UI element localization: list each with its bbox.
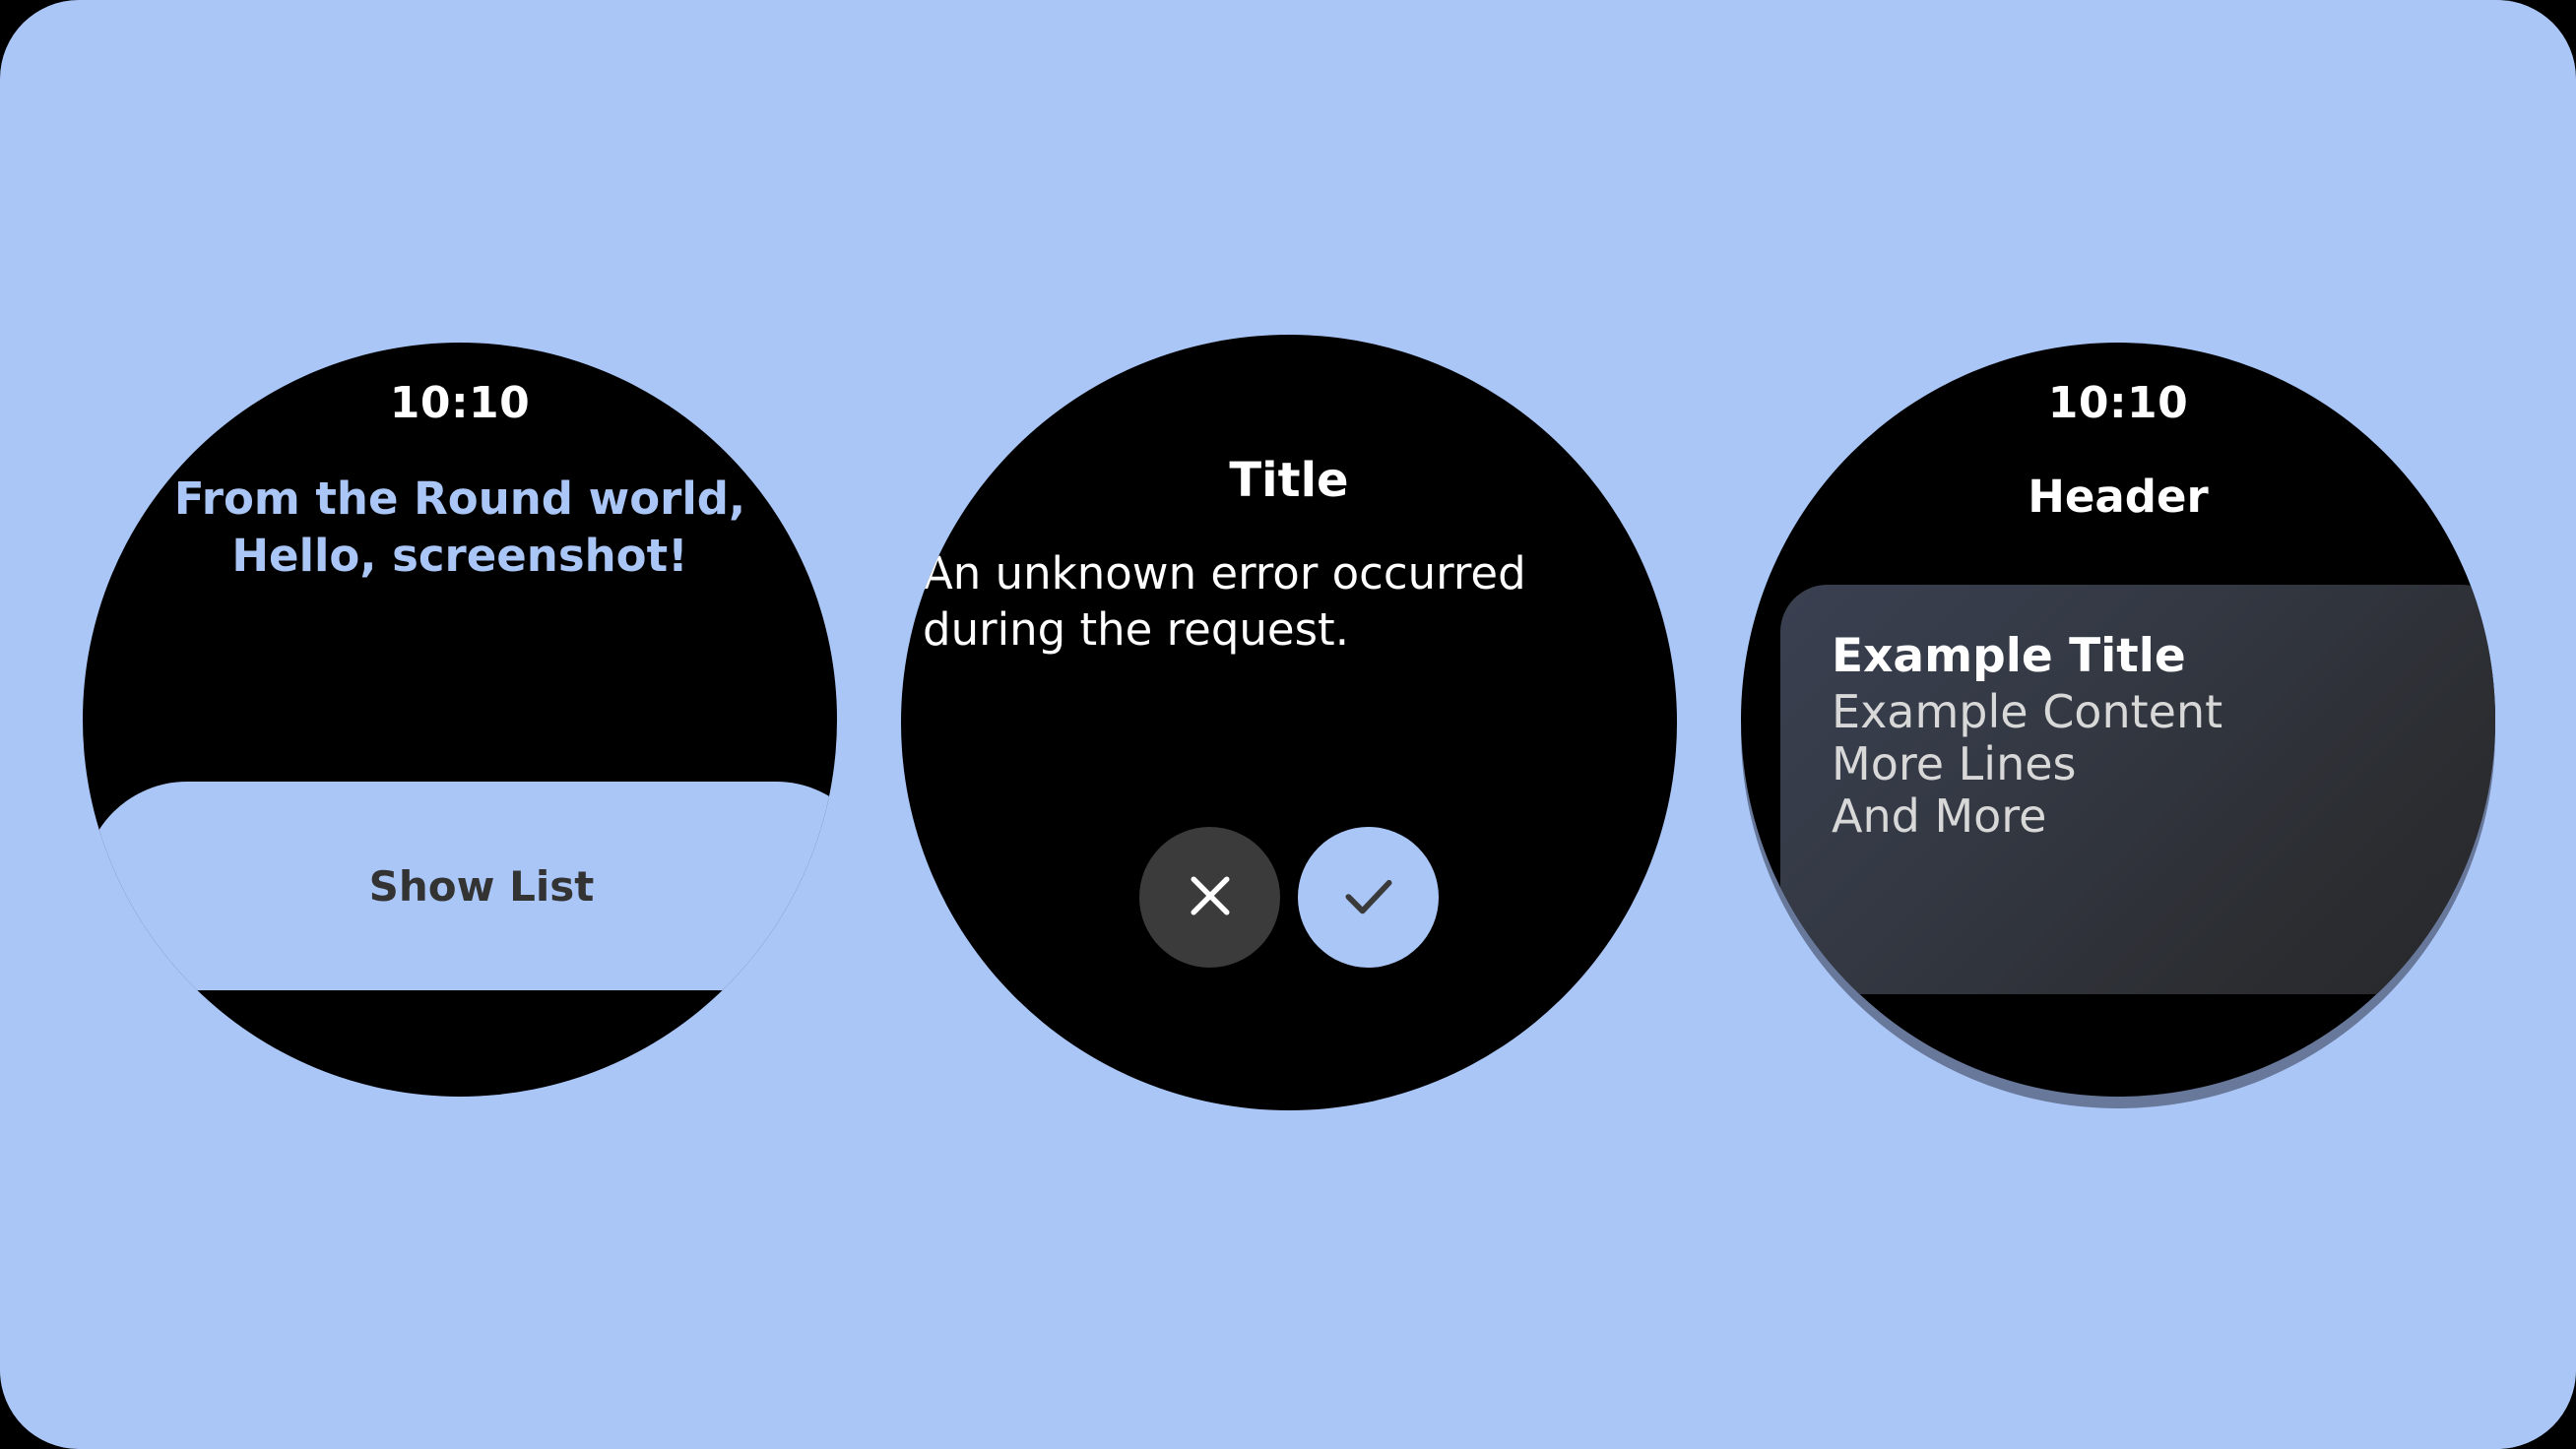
greeting-line-1: From the Round world, [122, 471, 798, 528]
dialog-title: Title [901, 453, 1677, 508]
card-title: Example Title [1832, 632, 2495, 680]
greeting-text: From the Round world, Hello, screenshot! [122, 471, 798, 584]
round-card-watch: 10:10 Header Example Title Example Conte… [1741, 343, 2495, 1097]
card-line: Example Content [1832, 688, 2495, 736]
greeting-line-2: Hello, screenshot! [122, 528, 798, 585]
screenshot-canvas: 10:10 From the Round world, Hello, scree… [0, 0, 2576, 1449]
status-time: 10:10 [83, 378, 837, 428]
example-card[interactable]: Example Title Example Content More Lines… [1780, 585, 2495, 994]
card-line: And More [1832, 792, 2495, 841]
dialog-message: An unknown error occurred during the req… [923, 546, 1655, 658]
dialog-actions [901, 827, 1677, 968]
confirm-button[interactable] [1298, 827, 1439, 968]
close-x-icon [1180, 865, 1241, 929]
round-dialog-watch: Title An unknown error occurred during t… [901, 335, 1677, 1110]
round-greeting-watch: 10:10 From the Round world, Hello, scree… [83, 343, 837, 1097]
check-icon [1336, 863, 1401, 931]
status-time: 10:10 [1741, 378, 2495, 428]
dismiss-button[interactable] [1139, 827, 1280, 968]
show-list-button[interactable]: Show List [83, 782, 837, 990]
card-line: More Lines [1832, 740, 2495, 788]
header-label: Header [1741, 471, 2495, 523]
